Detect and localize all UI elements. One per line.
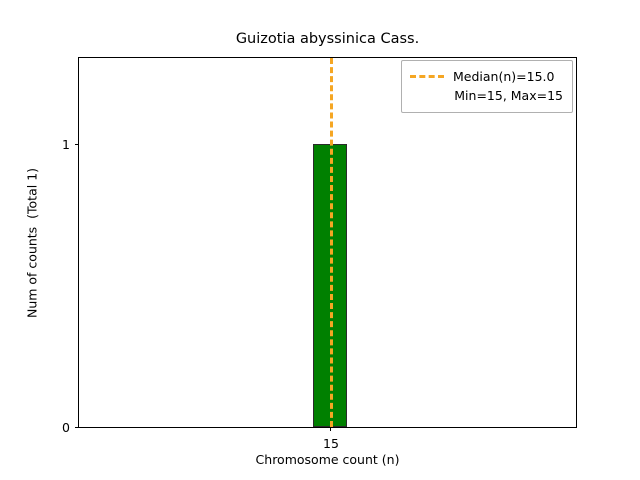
legend-entry-median: Median(n)=15.0: [410, 67, 564, 86]
x-tick-mark-15: 15: [330, 427, 331, 431]
page-title: Guizotia abyssinica Cass.: [78, 30, 577, 48]
y-tick-mark-0: 0: [75, 427, 79, 428]
x-tick-label-15: 15: [323, 438, 339, 451]
y-tick-label-0: 0: [62, 422, 70, 435]
y-axis-label-wrap: Num of counts (Total 1): [22, 57, 42, 428]
x-axis-label: Chromosome count (n): [78, 452, 577, 467]
legend-entry-minmax: Min=15, Max=15: [410, 86, 564, 105]
bars-layer: [79, 58, 576, 427]
chart-figure: Guizotia abyssinica Cass. 0 1 15 Num of …: [0, 0, 640, 480]
median-line: [330, 58, 333, 427]
y-tick-label-1: 1: [62, 138, 70, 151]
legend: Median(n)=15.0 Min=15, Max=15: [401, 60, 573, 113]
legend-label-minmax: Min=15, Max=15: [454, 89, 563, 103]
y-axis-label: Num of counts (Total 1): [25, 167, 40, 317]
legend-dashed-line-icon: [410, 75, 444, 78]
legend-label-median: Median(n)=15.0: [453, 70, 554, 84]
